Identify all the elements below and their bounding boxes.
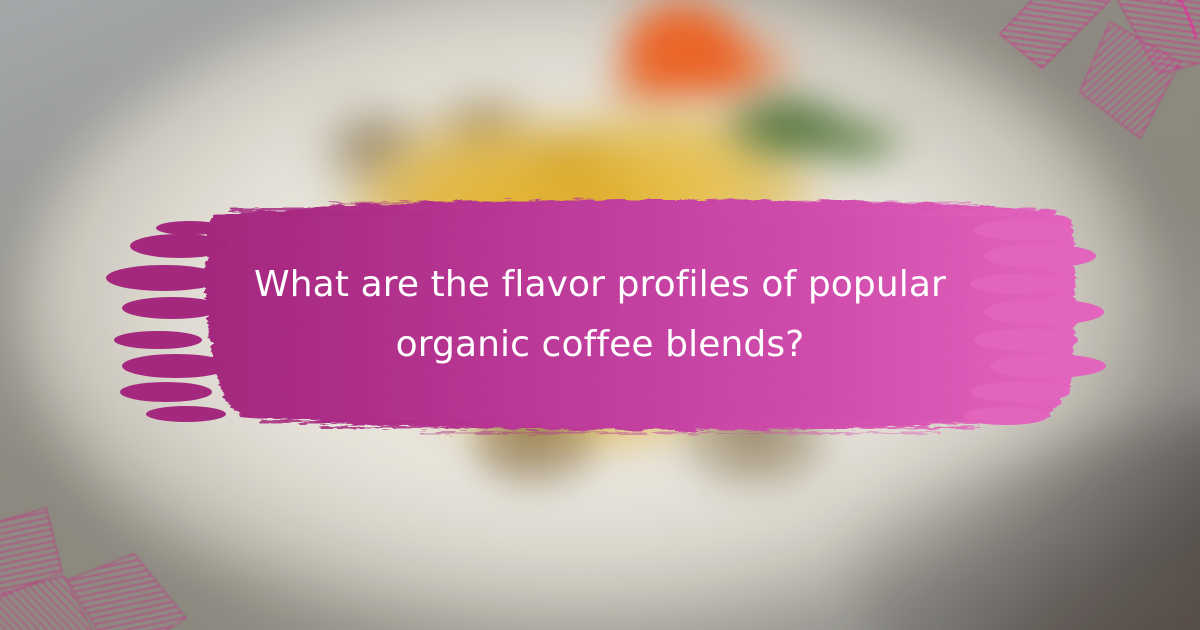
question-card-canvas: What are the flavor profiles of popular … [0, 0, 1200, 630]
brush-stroke-banner [120, 180, 1080, 450]
